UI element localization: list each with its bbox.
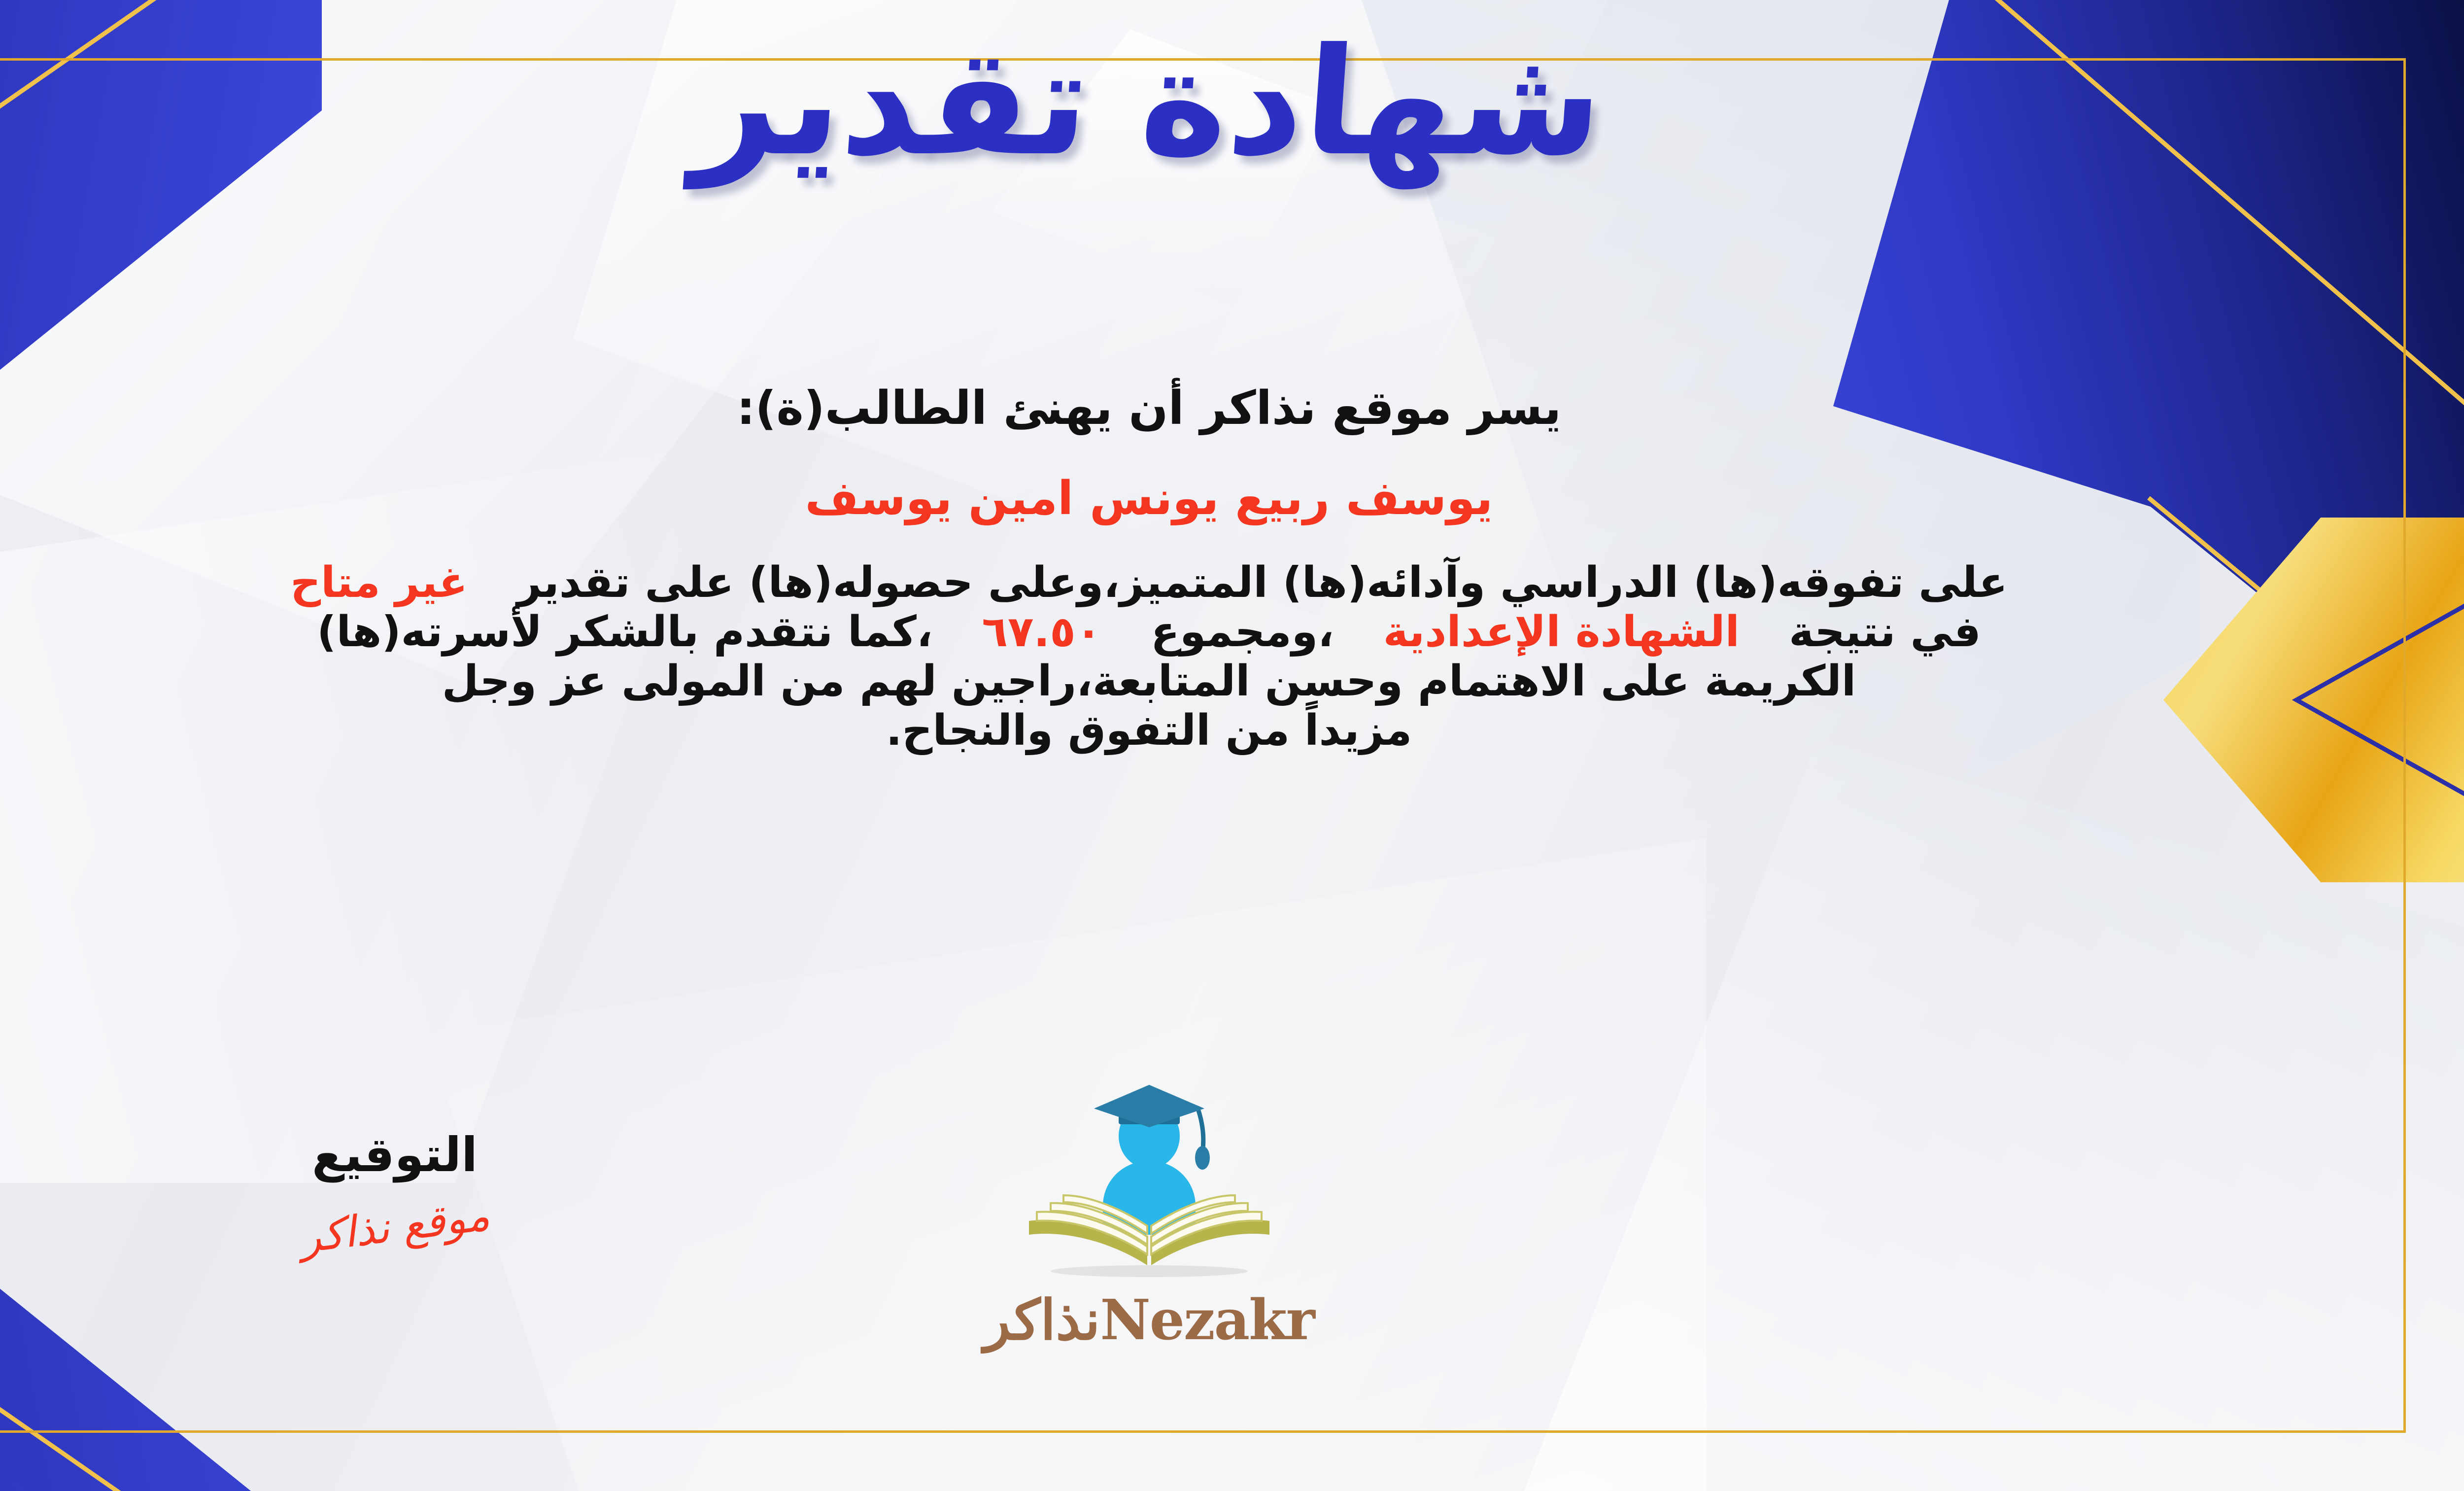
result-prefix: في نتيجة [1789, 607, 1981, 657]
graduate-over-open-book-icon [982, 1078, 1317, 1285]
signature-label: التوقيع [237, 1127, 552, 1182]
logo-wordmark: Nezakrنذاكر [972, 1288, 1327, 1352]
achievement-line-3: في نتيجة الشهادة الإعدادية ،ومجموع ٦٧.٥٠… [0, 607, 2376, 657]
total-score: ٦٧.٥٠ [982, 607, 1102, 657]
achievement-text-a: على تفوقه(ها) الدراسي وآدائه(ها) المتميز… [517, 558, 2008, 607]
achievement-line-5: مزيداً من التفوق والنجاح. [0, 706, 2376, 755]
achievement-line-2: على تفوقه(ها) الدراسي وآدائه(ها) المتميز… [0, 558, 2376, 607]
certificate-canvas: شهادة تقدير يسر موقع نذاكر أن يهنئ الطال… [0, 0, 2464, 1491]
certificate-title: شهادة تقدير [0, 29, 2411, 176]
signature-block: التوقيع موقع نذاكر [237, 1127, 552, 1251]
grade-value: غير متاح [290, 558, 468, 607]
exam-name: الشهادة الإعدادية [1383, 607, 1740, 657]
thanks-text: ،كما نتقدم بالشكر لأسرته(ها) [317, 607, 932, 657]
site-logo: Nezakrنذاكر [972, 1078, 1327, 1352]
certificate-body: يسر موقع نذاكر أن يهنئ الطالب(ة): يوسف ر… [0, 374, 2376, 755]
total-label: ،ومجموع [1151, 607, 1334, 657]
student-name: يوسف ربيع يونس امين يوسف [0, 464, 2376, 534]
signature-mark: موقع نذاكر [297, 1191, 492, 1263]
achievement-paragraph: على تفوقه(ها) الدراسي وآدائه(ها) المتميز… [0, 558, 2376, 755]
greeting-line: يسر موقع نذاكر أن يهنئ الطالب(ة): [0, 374, 2376, 444]
achievement-line-4: الكريمة على الاهتمام وحسن المتابعة،راجين… [0, 657, 2376, 706]
certificate-footer: التوقيع موقع نذاكر [0, 1068, 2406, 1413]
